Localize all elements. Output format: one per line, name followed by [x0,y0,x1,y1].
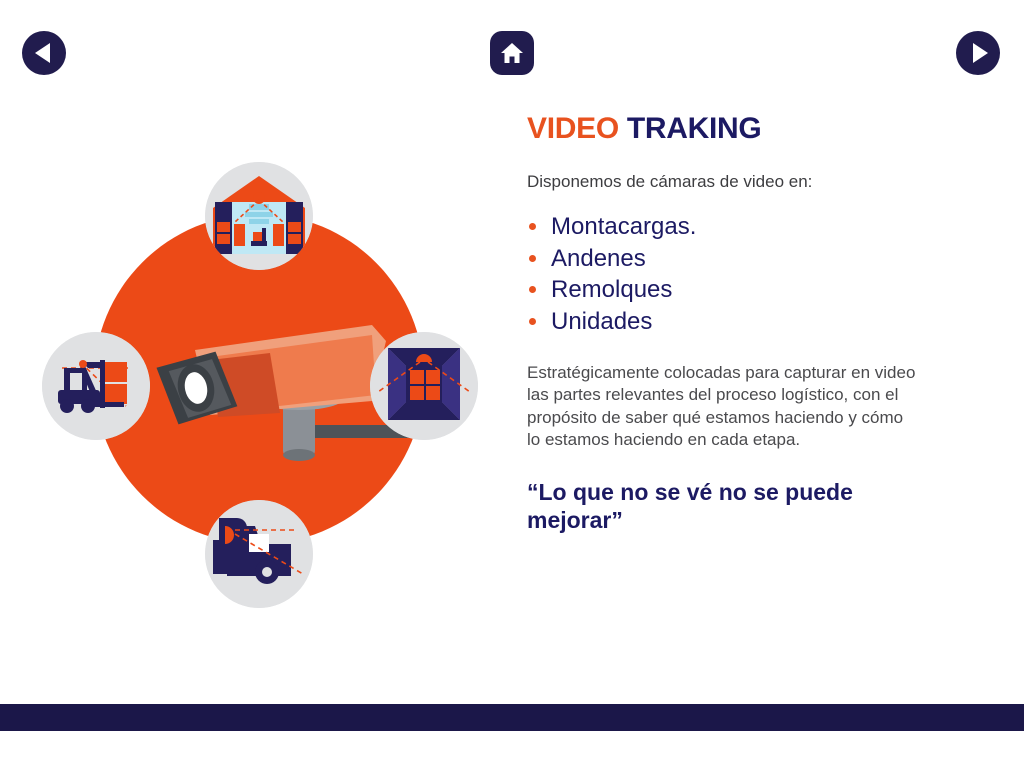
page-title: VIDEO TRAKING [527,112,927,145]
forklift-icon[interactable] [42,332,150,440]
footer-bar [0,704,1024,731]
list-item-label: Unidades [551,308,652,335]
home-button[interactable] [490,31,534,75]
previous-slide-button[interactable] [22,31,66,75]
truck-icon[interactable] [205,500,313,608]
subtitle-text: Disponemos de cámaras de video en: [527,171,927,193]
list-item: Andenes [527,243,927,275]
home-icon [500,42,524,64]
warehouse-interior-icon[interactable] [205,162,313,270]
next-slide-button[interactable] [956,31,1000,75]
list-item-label: Andenes [551,245,646,272]
list-item: Montacargas. [527,211,927,243]
bullet-dot-icon [529,255,536,262]
list-item: Unidades [527,306,927,338]
previous-slide-circle [22,31,66,75]
title-word-traking: TRAKING [627,112,762,145]
slide-content: VIDEO TRAKING Disponemos de cámaras de v… [527,112,927,534]
list-item: Remolques [527,274,927,306]
description-paragraph: Estratégicamente colocadas para capturar… [527,362,919,452]
bullet-dot-icon [529,223,536,230]
title-word-video: VIDEO [527,112,627,145]
bullet-dot-icon [529,286,536,293]
bullet-dot-icon [529,318,536,325]
next-slide-circle [956,31,1000,75]
triangle-left-icon [35,43,50,63]
list-item-label: Remolques [551,276,672,303]
quote-text: “Lo que no se vé no se puede mejorar” [527,478,887,534]
video-tracking-illustration [30,150,490,600]
camera-locations-list: Montacargas. Andenes Remolques Unidades [527,211,927,338]
list-item-label: Montacargas. [551,213,696,240]
trailer-interior-icon[interactable] [370,332,478,440]
home-button-shape [490,31,534,75]
triangle-right-icon [973,43,988,63]
